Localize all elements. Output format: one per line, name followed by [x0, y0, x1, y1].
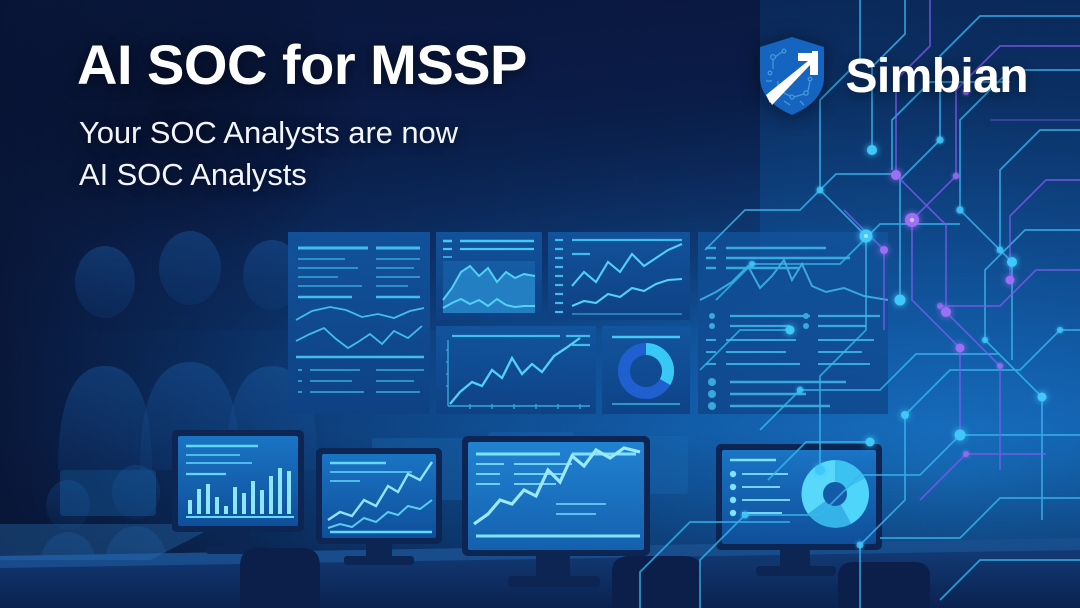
subtitle-line-1: Your SOC Analysts are now — [79, 115, 458, 150]
circuit-nodes — [742, 89, 1063, 548]
shield-arrow-icon — [756, 35, 828, 117]
headline-block: AI SOC for MSSP Your SOC Analysts are no… — [77, 36, 527, 195]
brand-logo[interactable]: Simbian — [756, 35, 1028, 117]
subtitle-line-2: AI SOC Analysts — [79, 157, 307, 192]
page-title: AI SOC for MSSP — [77, 36, 527, 94]
page-subtitle: Your SOC Analysts are now AI SOC Analyst… — [79, 112, 527, 195]
banner-graphic: AI SOC for MSSP Your SOC Analysts are no… — [0, 0, 1080, 608]
brand-name: Simbian — [845, 49, 1028, 104]
